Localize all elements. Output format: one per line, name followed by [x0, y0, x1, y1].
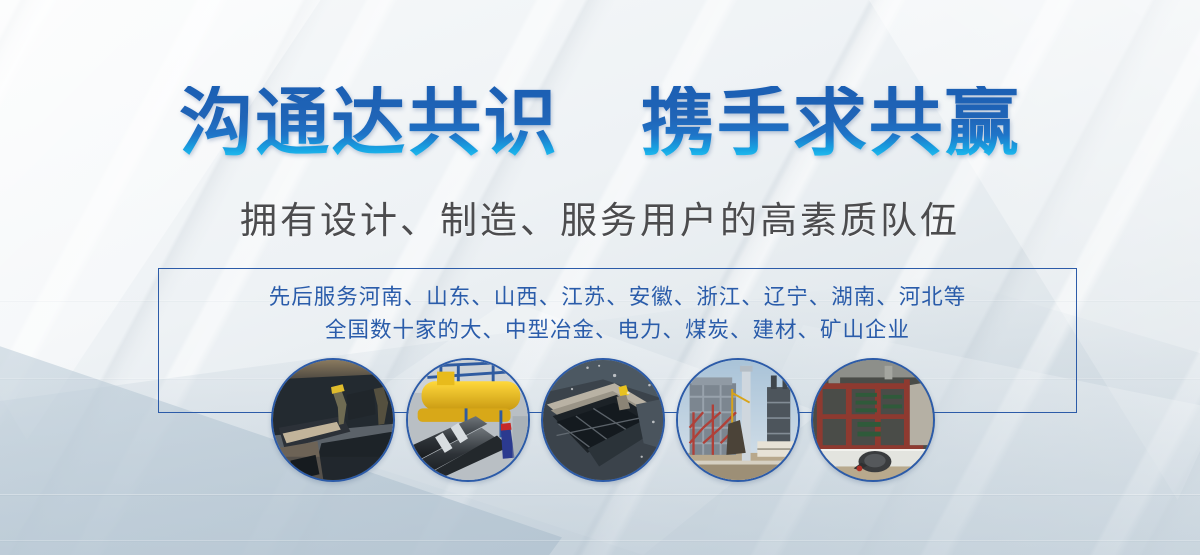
photo-image-4 — [678, 360, 798, 480]
headline-part-2: 携手求共赢 — [641, 80, 1021, 166]
subtitle: 拥有设计、制造、服务用户的高素质队伍 — [0, 198, 1200, 244]
body-copy: 先后服务河南、山东、山西、江苏、安徽、浙江、辽宁、湖南、河北等 全国数十家的大、… — [158, 281, 1077, 347]
photo-circle-power-plant-under-construction[interactable] — [676, 358, 800, 482]
photo-circle-steel-hopper-structure-in-snow[interactable] — [541, 358, 665, 482]
headline-part-1: 沟通达共识 — [179, 80, 559, 166]
photo-circle-workers-installing-dark-lining-panels[interactable] — [271, 358, 395, 482]
photo-image-2 — [408, 360, 528, 480]
photo-image-1 — [273, 360, 393, 480]
photo-image-3 — [543, 360, 663, 480]
body-copy-line-1: 先后服务河南、山东、山西、江苏、安徽、浙江、辽宁、湖南、河北等 — [158, 281, 1077, 314]
photo-circle-row — [0, 358, 1200, 486]
background-seam-line-4 — [0, 540, 1200, 541]
photo-circle-yellow-equipment-with-large-pipes[interactable] — [406, 358, 530, 482]
promotional-banner: 沟通达共识 携手求共赢 拥有设计、制造、服务用户的高素质队伍 先后服务河南、山东… — [0, 0, 1200, 555]
body-copy-line-2: 全国数十家的大、中型冶金、电力、煤炭、建材、矿山企业 — [158, 314, 1077, 347]
photo-circle-factory-interior-red-steel-frame[interactable] — [811, 358, 935, 482]
background-seam-line-3 — [0, 494, 1200, 495]
photo-image-5 — [813, 360, 933, 480]
headline: 沟通达共识 携手求共赢 — [0, 86, 1200, 160]
